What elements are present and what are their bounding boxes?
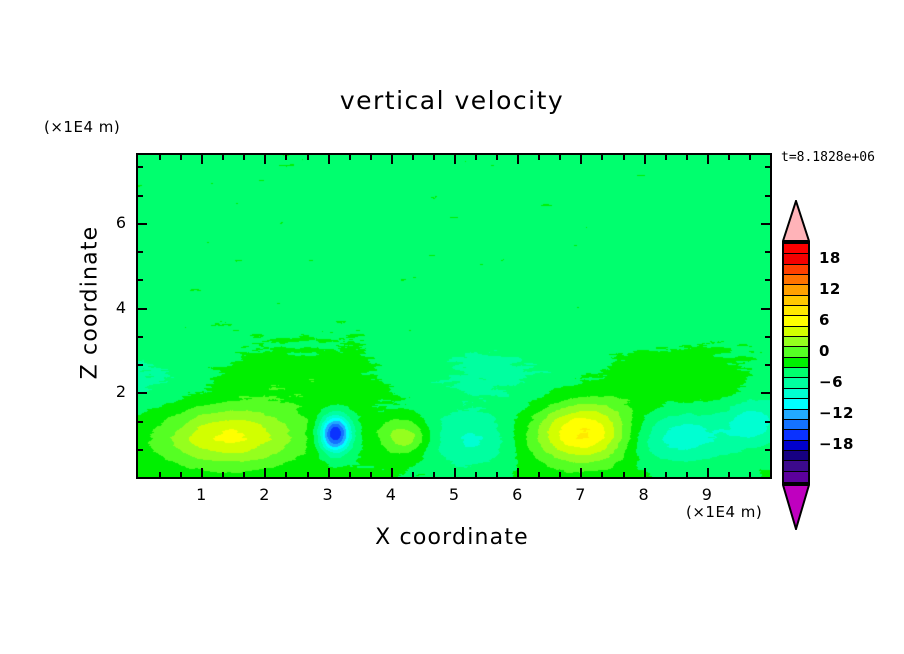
colorbar-segment: [784, 378, 808, 388]
colorbar-under-arrow: [782, 482, 810, 530]
colorbar-segment: [784, 337, 808, 347]
y-axis-title: Z coordinate: [78, 193, 103, 413]
figure-canvas: vertical velocity (×1E4 m) (×1E4 m) t=8.…: [0, 0, 904, 654]
axis-tick: [370, 472, 372, 477]
timestamp-annotation: t=8.1828e+06: [781, 150, 875, 165]
axis-tick: [749, 155, 751, 160]
axis-tick: [328, 468, 330, 477]
y-axis-unit-label: (×1E4 m): [44, 118, 120, 136]
axis-tick: [765, 195, 770, 197]
axis-tick: [328, 155, 330, 164]
axis-tick: [159, 472, 161, 477]
axis-tick: [201, 155, 203, 164]
axis-tick: [391, 468, 393, 477]
colorbar-segment: [784, 327, 808, 337]
colorbar-segment: [784, 306, 808, 316]
axis-tick: [601, 472, 603, 477]
axis-tick: [285, 472, 287, 477]
axis-tick: [349, 472, 351, 477]
axis-tick: [243, 155, 245, 160]
axis-tick: [264, 155, 266, 164]
axis-tick: [433, 155, 435, 160]
colorbar-segment: [784, 472, 808, 482]
x-axis-unit-label: (×1E4 m): [686, 503, 762, 521]
colorbar-tick-label: −12: [819, 404, 854, 422]
axis-tick: [201, 468, 203, 477]
colorbar-tick-label: 0: [819, 342, 830, 360]
axis-tick: [665, 155, 667, 160]
axis-tick: [454, 468, 456, 477]
axis-tick: [138, 223, 147, 225]
axis-tick: [138, 308, 147, 310]
axis-tick: [538, 472, 540, 477]
x-axis-tick-label: 9: [692, 485, 722, 504]
colorbar-segment: [784, 244, 808, 254]
colorbar-tick-label: 18: [819, 249, 841, 267]
colorbar-segment: [784, 265, 808, 275]
axis-tick: [761, 223, 770, 225]
x-axis-tick-label: 2: [249, 485, 279, 504]
colorbar-tick-label: −18: [819, 435, 854, 453]
colorbar-segment: [784, 347, 808, 357]
axis-tick: [138, 364, 143, 366]
axis-tick: [391, 155, 393, 164]
colorbar-segment: [784, 368, 808, 378]
colorbar-segment: [784, 316, 808, 326]
colorbar-over-arrow: [782, 200, 810, 242]
plot-area: [136, 153, 772, 479]
axis-tick: [138, 195, 143, 197]
axis-tick: [765, 449, 770, 451]
axis-tick: [454, 155, 456, 164]
axis-tick: [138, 421, 143, 423]
axis-tick: [761, 392, 770, 394]
axis-tick: [623, 155, 625, 160]
axis-tick: [580, 468, 582, 477]
axis-tick: [559, 155, 561, 160]
axis-tick: [496, 472, 498, 477]
axis-tick: [138, 166, 143, 168]
axis-tick: [433, 472, 435, 477]
colorbar-segment: [784, 358, 808, 368]
axis-tick: [222, 472, 224, 477]
colorbar-segment: [784, 420, 808, 430]
axis-tick: [243, 472, 245, 477]
colorbar-segment: [784, 285, 808, 295]
axis-tick: [749, 472, 751, 477]
axis-tick: [517, 155, 519, 164]
axis-tick: [765, 421, 770, 423]
colorbar-segment: [784, 254, 808, 264]
axis-tick: [138, 279, 143, 281]
axis-tick: [475, 472, 477, 477]
colorbar-segment: [784, 399, 808, 409]
axis-tick: [644, 155, 646, 164]
axis-tick: [559, 472, 561, 477]
axis-tick: [349, 155, 351, 160]
x-axis-tick-label: 8: [629, 485, 659, 504]
axis-tick: [665, 472, 667, 477]
axis-tick: [728, 155, 730, 160]
colorbar-segment: [784, 441, 808, 451]
axis-tick: [765, 364, 770, 366]
axis-tick: [765, 166, 770, 168]
axis-tick: [686, 155, 688, 160]
axis-tick: [728, 472, 730, 477]
axis-tick: [138, 449, 143, 451]
axis-tick: [412, 472, 414, 477]
x-axis-tick-label: 4: [376, 485, 406, 504]
axis-tick: [517, 468, 519, 477]
axis-tick: [496, 155, 498, 160]
colorbar-segment: [784, 430, 808, 440]
x-axis-tick-label: 1: [186, 485, 216, 504]
axis-tick: [761, 308, 770, 310]
axis-tick: [707, 468, 709, 477]
axis-tick: [138, 251, 143, 253]
axis-tick: [138, 336, 143, 338]
axis-tick: [601, 155, 603, 160]
axis-tick: [538, 155, 540, 160]
x-axis-tick-label: 6: [502, 485, 532, 504]
colorbar-segment: [784, 451, 808, 461]
colorbar-segment: [784, 461, 808, 471]
x-axis-tick-label: 5: [439, 485, 469, 504]
colorbar-segment: [784, 410, 808, 420]
axis-tick: [707, 155, 709, 164]
colorbar-segment: [784, 296, 808, 306]
axis-tick: [180, 155, 182, 160]
axis-tick: [138, 392, 147, 394]
colorbar: 181260−6−12−18: [779, 200, 899, 520]
axis-tick: [307, 155, 309, 160]
axis-tick: [623, 472, 625, 477]
colorbar-segment: [784, 275, 808, 285]
axis-tick: [222, 155, 224, 160]
axis-tick: [765, 251, 770, 253]
page-title: vertical velocity: [0, 86, 904, 115]
axis-tick: [580, 155, 582, 164]
axis-tick: [159, 155, 161, 160]
colorbar-segment: [784, 389, 808, 399]
x-axis-tick-label: 7: [565, 485, 595, 504]
axis-tick: [180, 472, 182, 477]
colorbar-tick-label: 12: [819, 280, 841, 298]
axis-tick: [307, 472, 309, 477]
axis-tick: [285, 155, 287, 160]
axis-tick: [765, 336, 770, 338]
colorbar-segments: [782, 242, 810, 484]
colorbar-tick-label: 6: [819, 311, 830, 329]
axis-tick: [475, 155, 477, 160]
x-axis-tick-label: 3: [313, 485, 343, 504]
axis-tick: [686, 472, 688, 477]
axis-tick: [765, 279, 770, 281]
axis-tick: [644, 468, 646, 477]
x-axis-title: X coordinate: [0, 525, 904, 550]
contour-field: [138, 155, 770, 477]
colorbar-tick-label: −6: [819, 373, 843, 391]
axis-tick: [370, 155, 372, 160]
axis-tick: [264, 468, 266, 477]
axis-tick: [412, 155, 414, 160]
